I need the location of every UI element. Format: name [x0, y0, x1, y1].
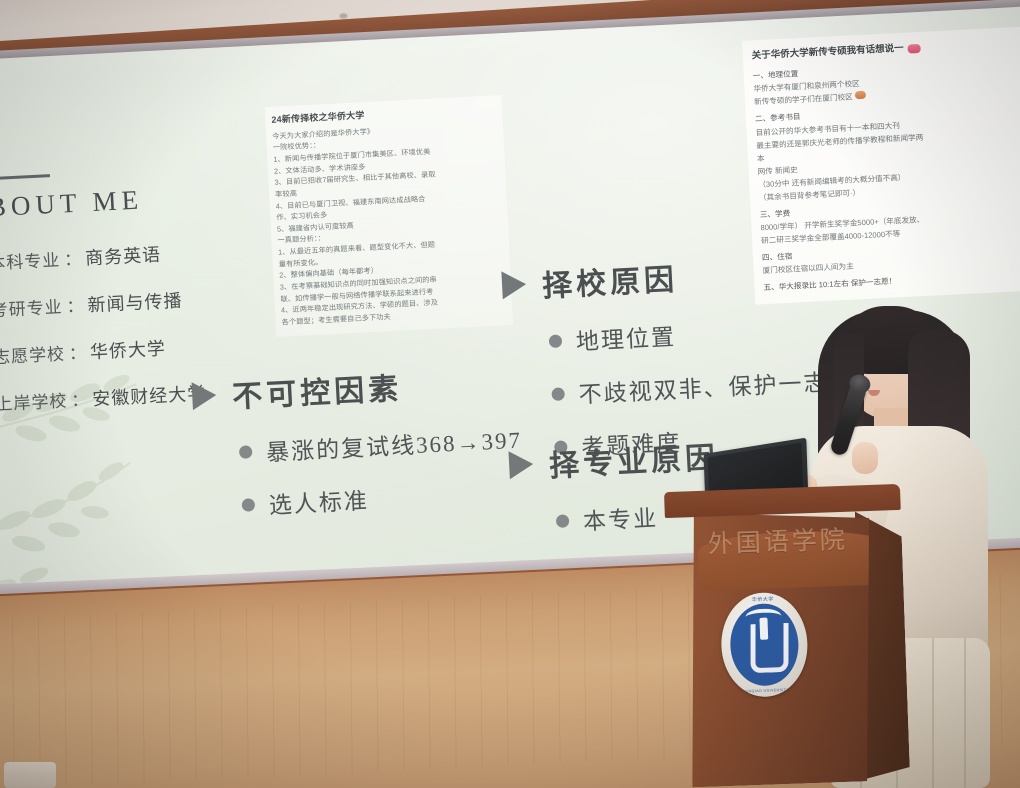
bullet-row: 选人标准	[241, 474, 525, 522]
about-key: 一志愿学校	[0, 340, 66, 371]
about-value: 华侨大学	[89, 334, 166, 364]
about-value: 商务英语	[84, 241, 161, 271]
dot-bullet-icon	[556, 514, 570, 528]
title-rule	[0, 174, 50, 181]
block-heading: 择专业原因	[548, 433, 720, 486]
floor-object	[4, 762, 56, 788]
center-note-panel: 24新传择校之华侨大学 今天为大家介绍的是华侨大学》 一院校优势：： 1、新闻与…	[265, 95, 513, 336]
about-key: 本科专业	[0, 246, 61, 277]
podium: 外国语学院 华侨大学 HUAQIAO UNIVERSITY	[668, 484, 906, 788]
about-row: 考研专业 ： 新闻与传播	[0, 282, 275, 325]
podium-label: 外国语学院	[687, 519, 868, 561]
right-note-title-text: 关于华侨大学新传专硕我有话想说一	[751, 41, 904, 65]
triangle-bullet-icon	[508, 450, 533, 479]
about-me-title: ABOUT ME	[0, 178, 270, 224]
about-colon: ：	[64, 338, 90, 364]
block-heading: 择校原因	[541, 254, 679, 305]
dot-bullet-icon	[239, 445, 253, 459]
triangle-bullet-icon	[501, 270, 526, 299]
about-row: 一志愿学校 ： 华侨大学	[0, 329, 277, 372]
bullet-text: 暴涨的复试线368→397	[265, 421, 522, 468]
about-colon: ：	[60, 244, 86, 270]
about-value: 新闻与传播	[87, 287, 183, 318]
hand-holding-microphone	[852, 442, 878, 474]
right-note-line-text: 新传专硕的学子们在厦门校区	[754, 93, 853, 107]
about-row: 本科专业 ： 商务英语	[0, 235, 273, 278]
block-heading: 不可控因素	[231, 364, 403, 417]
about-value: 安徽财经大学	[92, 379, 207, 411]
bullet-text: 选人标准	[268, 481, 370, 520]
about-colon: ：	[62, 291, 88, 317]
about-key: 考研专业	[0, 293, 63, 324]
bullet-text: 本专业	[582, 499, 659, 537]
about-key: 上岸学校	[0, 387, 68, 418]
block-heading-row: 择校原因	[501, 246, 849, 307]
dot-bullet-icon	[551, 387, 565, 401]
block-heading-row: 择专业原因	[508, 433, 720, 488]
about-colon: ：	[67, 385, 93, 411]
crest-monogram	[751, 623, 789, 673]
ceiling-fixture-icon	[340, 14, 347, 18]
block-uncontrollable-factors: 不可控因素 暴涨的复试线368→397 选人标准	[191, 358, 525, 524]
bullet-text: 地理位置	[575, 318, 677, 357]
triangle-bullet-icon	[192, 381, 217, 410]
sticker-emoji-icon	[855, 91, 866, 100]
dot-bullet-icon	[242, 498, 256, 512]
dot-bullet-icon	[549, 334, 563, 348]
sticker-emoji-icon	[907, 44, 920, 54]
lecture-hall-photo: ABOUT ME 本科专业 ： 商务英语 考研专业 ： 新闻与传播 一志愿学校 …	[0, 0, 1020, 788]
crest-monogram-stem	[759, 618, 768, 640]
crest-disc	[729, 603, 800, 687]
bullet-row: 暴涨的复试线368→397	[238, 421, 522, 469]
